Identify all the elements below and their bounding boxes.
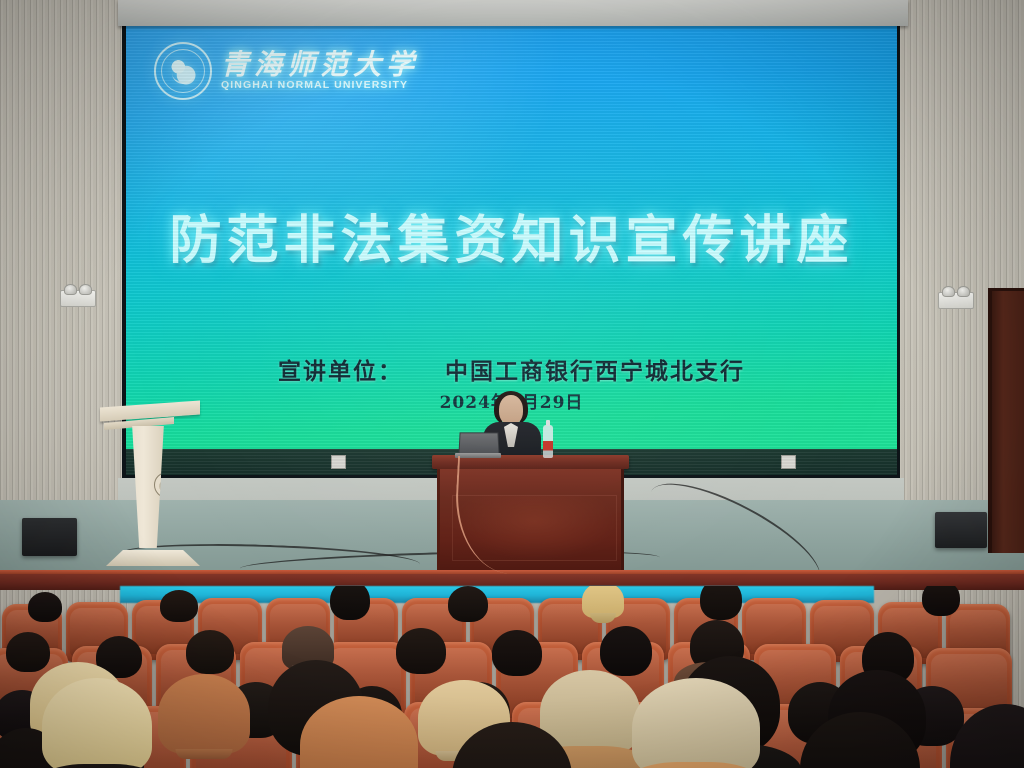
laptop[interactable] <box>455 432 499 458</box>
university-name-english: QINGHAI NORMAL UNIVERSITY <box>221 80 419 91</box>
person-head <box>6 632 50 672</box>
person-cap <box>42 678 152 768</box>
exit-door[interactable] <box>988 288 1024 553</box>
audience-area <box>0 586 1024 768</box>
wall-socket-left[interactable] <box>331 455 346 469</box>
person-head <box>330 586 370 620</box>
lectern-emblem-icon <box>154 472 180 498</box>
presenter-head <box>499 395 523 425</box>
person-cap <box>632 678 760 768</box>
person-head <box>28 592 62 622</box>
wall-socket-right[interactable] <box>781 455 796 469</box>
floor-speaker-left <box>22 518 77 556</box>
floor-speaker-right <box>935 512 987 548</box>
university-emblem-icon <box>154 42 212 100</box>
auditorium-photo: 青海师范大学 QINGHAI NORMAL UNIVERSITY 防范非法集资知… <box>0 0 1024 768</box>
person-head <box>448 586 488 622</box>
person-head <box>186 630 234 674</box>
person-head <box>492 630 542 676</box>
emergency-light-left-icon <box>60 290 96 307</box>
person-cap <box>158 674 250 754</box>
person-cap <box>582 586 624 618</box>
emblem-mark-icon <box>170 59 196 85</box>
university-name-chinese: 青海师范大学 <box>221 51 419 79</box>
lectern-base <box>106 550 200 566</box>
person-head <box>600 626 652 676</box>
slide-subtitle: 宣讲单位： 中国工商银行西宁城北支行 <box>126 352 897 386</box>
wooden-lectern[interactable] <box>108 404 196 572</box>
projector-screen-valance <box>118 0 908 26</box>
slide-title: 防范非法集资知识宣传讲座 <box>126 198 897 273</box>
university-logo: 青海师范大学 QINGHAI NORMAL UNIVERSITY <box>154 42 419 100</box>
slide-subtitle-label: 宣讲单位： <box>278 358 403 385</box>
lectern-body <box>126 426 170 548</box>
person-head <box>922 586 960 616</box>
slide-subtitle-value: 中国工商银行西宁城北支行 <box>445 358 745 385</box>
water-bottle <box>543 425 553 458</box>
emergency-light-right-icon <box>938 292 974 309</box>
person-head <box>160 590 198 622</box>
person-head <box>396 628 446 674</box>
person-head <box>700 586 742 620</box>
